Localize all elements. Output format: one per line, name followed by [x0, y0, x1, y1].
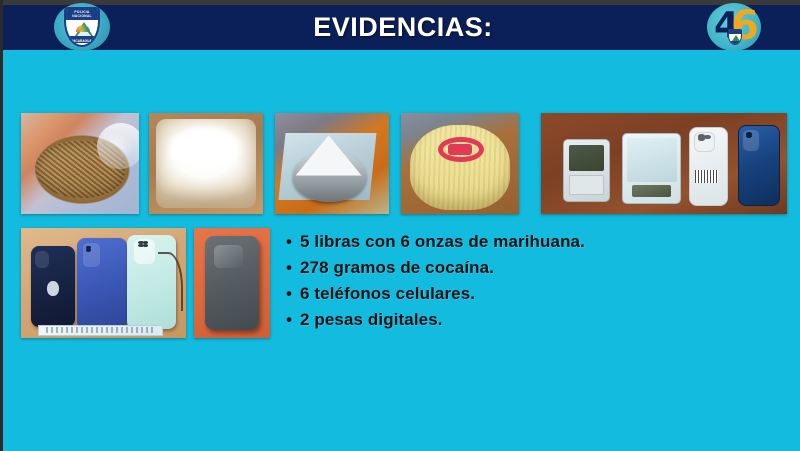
powder-highlight: [170, 127, 241, 167]
photo-scales-phones: [541, 113, 787, 214]
apple-logo-icon: [47, 281, 59, 296]
shield-top-text: POLICIA NACIONAL: [66, 10, 98, 18]
scale-plate: [627, 138, 677, 182]
presentation-slide: EVIDENCIAS: POLICIA NACIONAL NICARAGUA 4…: [0, 0, 800, 451]
camera-lens: [704, 135, 710, 139]
photo-scale1: [275, 113, 389, 214]
photo-scales-phones-image: [541, 113, 787, 214]
46-anniversary-logo: 4 6: [703, 3, 765, 51]
list-item: • 5 libras con 6 onzas de marihuana.: [286, 231, 786, 253]
cheese-wheel: [410, 125, 509, 210]
list-item-label: 2 pesas digitales.: [300, 309, 443, 331]
photo-single-phone-image: [194, 228, 270, 338]
mini-shield-bottom-band: [729, 41, 741, 44]
photo-marijuana-image: [21, 113, 139, 214]
rainbow-icon: [76, 25, 90, 32]
camera-module: [134, 239, 156, 264]
digital-scale-1: [563, 139, 610, 202]
bullet-icon: •: [286, 309, 300, 331]
phone-blue: [738, 125, 780, 206]
bullet-icon: •: [286, 283, 300, 305]
scale-display: [569, 145, 605, 170]
camera-module: [694, 132, 715, 152]
list-item: • 278 gramos de cocaína.: [286, 257, 786, 279]
phone-gray: [205, 236, 260, 331]
photo-cheese: [401, 113, 519, 214]
list-item: • 2 pesas digitales.: [286, 309, 786, 331]
camera-lens: [143, 244, 149, 247]
photo-marijuana: [21, 113, 139, 214]
phone-dark-blue: [31, 246, 76, 327]
cable-on-table: [158, 252, 183, 311]
camera-module: [83, 243, 100, 267]
bullet-icon: •: [286, 257, 300, 279]
camera-module: [743, 130, 760, 150]
phone-white: [689, 127, 728, 206]
photo-scale1-image: [275, 113, 389, 214]
page-title: EVIDENCIAS:: [313, 12, 493, 43]
photo-three-phones-image: [21, 228, 186, 338]
slide-header: EVIDENCIAS:: [3, 5, 800, 50]
photo-powder: [149, 113, 263, 214]
evidence-label: [38, 325, 163, 336]
red-bar-mark: [448, 144, 472, 155]
bullet-icon: •: [286, 231, 300, 253]
evidence-list: • 5 libras con 6 onzas de marihuana. • 2…: [286, 231, 786, 335]
phone-label-sticker: [695, 170, 718, 182]
mini-shield-icon: [728, 29, 742, 45]
photo-single-phone: [194, 228, 270, 338]
camera-lens: [86, 248, 91, 252]
phone-royal-blue: [77, 238, 127, 330]
policia-nacional-shield-logo: POLICIA NACIONAL NICARAGUA: [51, 3, 113, 51]
photo-powder-image: [149, 113, 263, 214]
photo-three-phones: [21, 228, 186, 338]
list-item: • 6 teléfonos celulares.: [286, 283, 786, 305]
list-item-label: 278 gramos de cocaína.: [300, 257, 494, 279]
camera-module: [35, 251, 48, 267]
scale-keypad: [569, 175, 605, 194]
photo-cheese-image: [401, 113, 519, 214]
camera-lens: [746, 134, 753, 139]
shield-bottom-text: NICARAGUA: [66, 39, 98, 43]
scale-display: [632, 185, 671, 197]
mini-shield-top-band: [729, 30, 741, 34]
list-item-label: 5 libras con 6 onzas de marihuana.: [300, 231, 585, 253]
shield-crest: POLICIA NACIONAL NICARAGUA: [64, 7, 100, 47]
digital-scale-2: [622, 133, 681, 204]
list-item-label: 6 teléfonos celulares.: [300, 283, 475, 305]
